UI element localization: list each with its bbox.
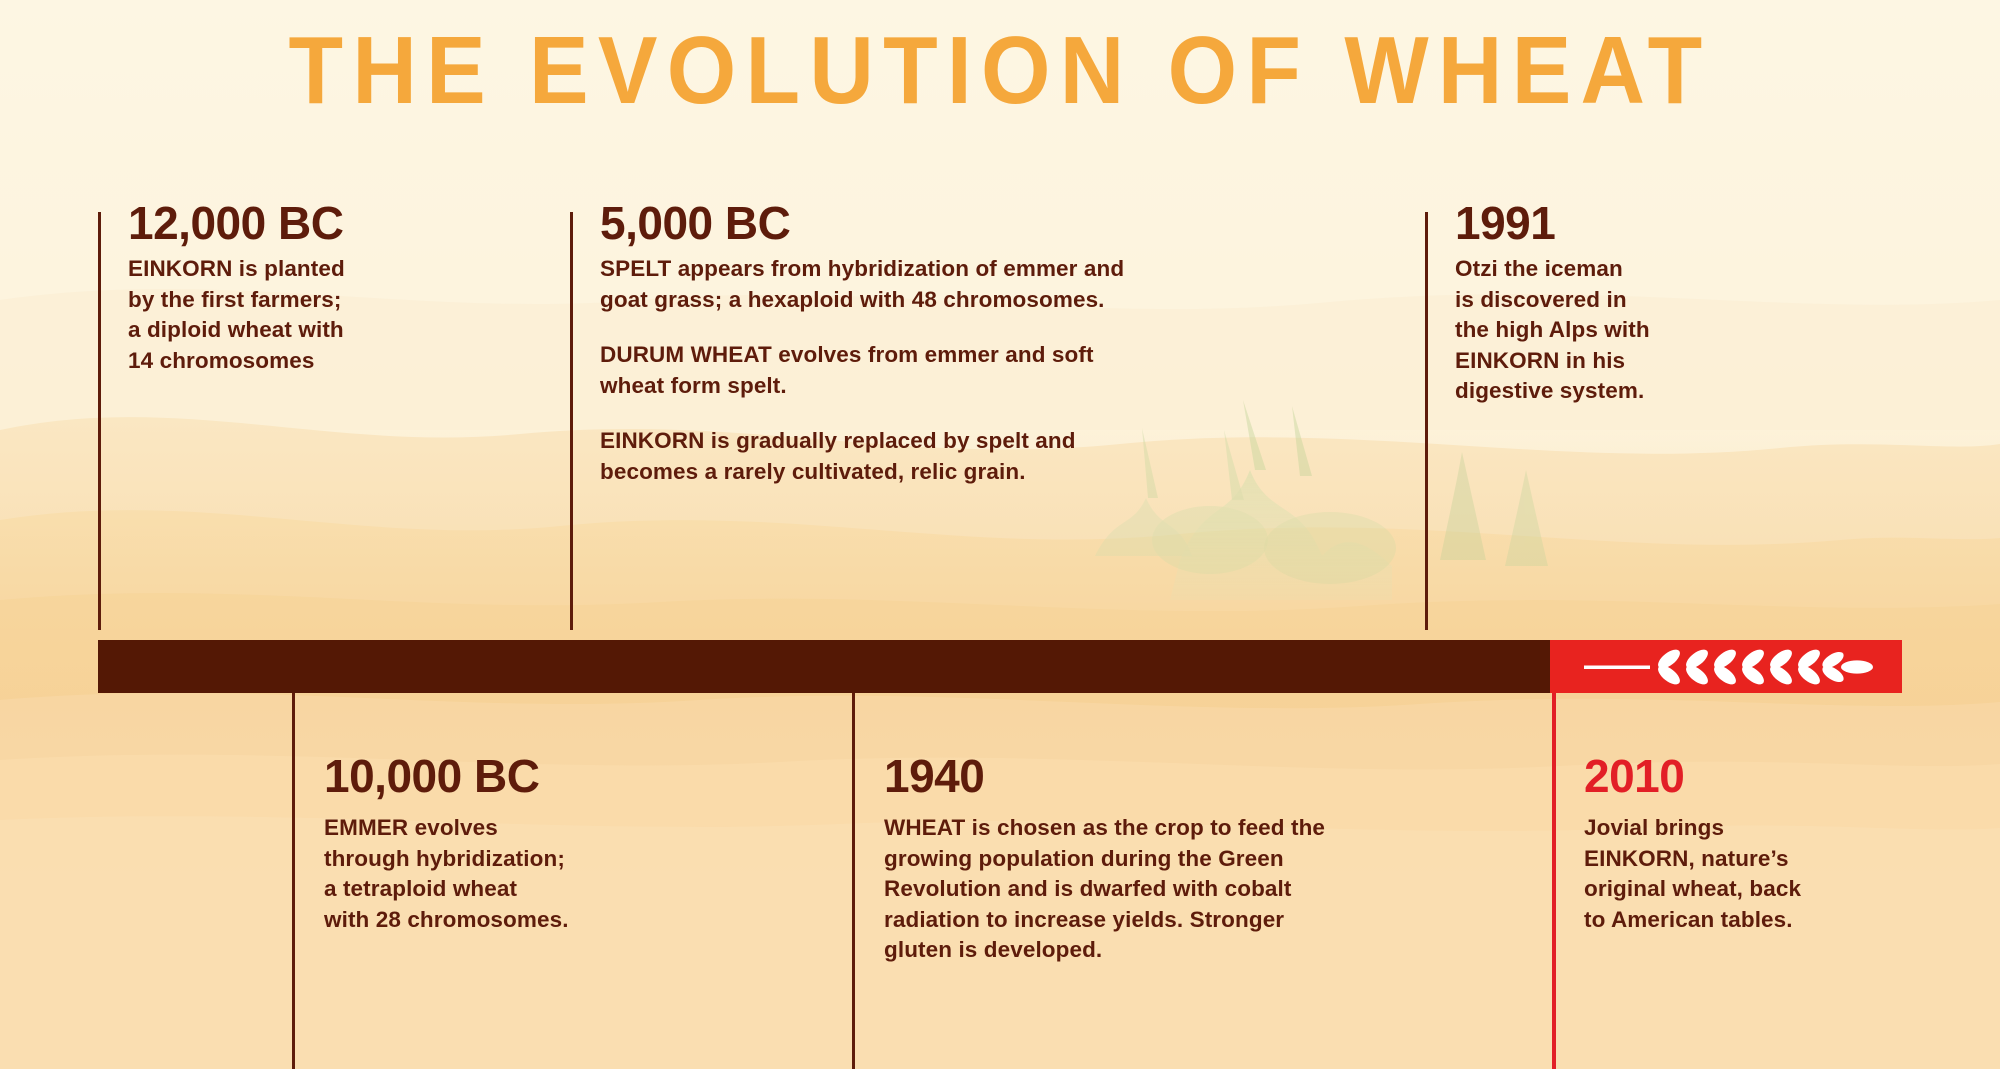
timeline-top-row: 12,000 BC EINKORN is planted by the firs…	[0, 200, 2000, 640]
timeline-entry-10000-bc[interactable]: 10,000 BC EMMER evolves through hybridiz…	[292, 693, 672, 935]
timeline-bar	[98, 640, 1902, 693]
entry-year: 10,000 BC	[324, 753, 672, 799]
timeline-bar-dark-segment	[98, 640, 1550, 693]
entry-year: 5,000 BC	[600, 200, 1290, 246]
timeline-entry-1991[interactable]: 1991 Otzi the iceman is discovered in th…	[1425, 200, 1845, 407]
entry-divider-line	[852, 693, 855, 1069]
entry-paragraph: WHEAT is chosen as the crop to feed the …	[884, 813, 1472, 966]
entry-paragraph: Otzi the iceman is discovered in the hig…	[1455, 254, 1845, 407]
entry-paragraph: SPELT appears from hybridization of emme…	[600, 254, 1290, 315]
entry-paragraph: Jovial brings EINKORN, nature’s original…	[1584, 813, 1972, 935]
entry-year: 12,000 BC	[128, 200, 448, 246]
entry-paragraph: EINKORN is gradually replaced by spelt a…	[600, 426, 1290, 487]
entry-paragraph: EMMER evolves through hybridization; a t…	[324, 813, 672, 935]
entry-paragraph: EINKORN is planted by the first farmers;…	[128, 254, 448, 376]
entry-year: 2010	[1584, 753, 1972, 799]
entry-divider-line	[1552, 693, 1556, 1069]
entry-divider-line	[98, 212, 101, 630]
entry-year: 1940	[884, 753, 1472, 799]
entry-divider-line	[1425, 212, 1428, 630]
timeline-entry-1940[interactable]: 1940 WHEAT is chosen as the crop to feed…	[852, 693, 1472, 966]
entry-paragraph: DURUM WHEAT evolves from emmer and soft …	[600, 340, 1290, 401]
page-title: THE EVOLUTION OF WHEAT	[0, 22, 2000, 120]
timeline-entry-5000-bc[interactable]: 5,000 BC SPELT appears from hybridizatio…	[570, 200, 1290, 488]
page-title-text: THE EVOLUTION OF WHEAT	[70, 22, 1930, 120]
entry-divider-line	[570, 212, 573, 630]
wheat-stalk-icon	[1550, 640, 1902, 693]
timeline-entry-2010[interactable]: 2010 Jovial brings EINKORN, nature’s ori…	[1552, 693, 1972, 935]
timeline-bottom-row: 10,000 BC EMMER evolves through hybridiz…	[0, 693, 2000, 1069]
timeline-entry-12000-bc[interactable]: 12,000 BC EINKORN is planted by the firs…	[98, 200, 448, 376]
entry-year: 1991	[1455, 200, 1845, 246]
entry-divider-line	[292, 693, 295, 1069]
